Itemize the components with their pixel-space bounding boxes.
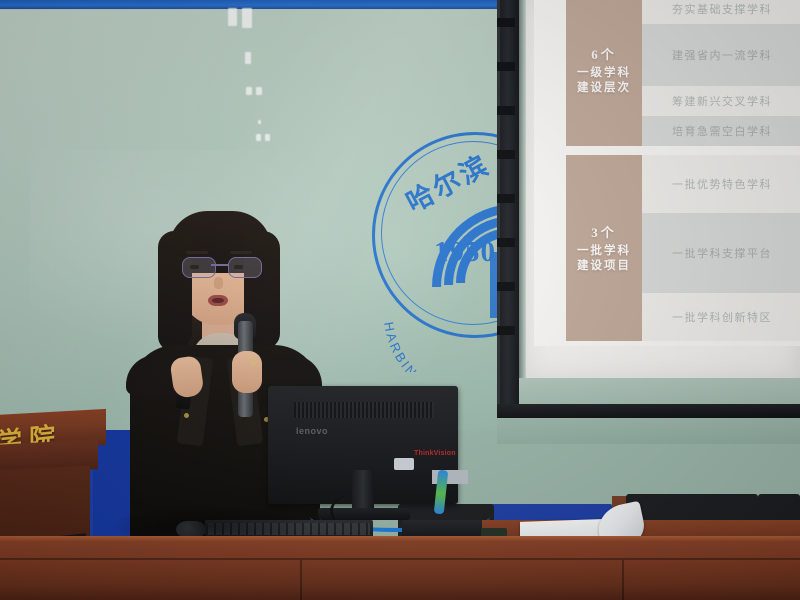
finger-ring	[250, 361, 256, 365]
light-reflection	[246, 87, 252, 95]
jacket-button	[184, 413, 189, 418]
slide-row: 一批优势特色学科	[642, 155, 800, 213]
eyebrow-right	[230, 251, 252, 254]
desk-shadow	[110, 505, 310, 540]
screen-left-frame	[519, 0, 526, 420]
light-reflection	[265, 134, 270, 141]
slide-row: 一批学科创新特区	[642, 293, 800, 341]
slide-group-label: 3个 一批学科 建设项目	[566, 155, 642, 341]
presentation-slide: 6个 一级学科 建设层次 夯实基础支撑学科 建强省内一流学科 筹建新兴交叉学科 …	[534, 0, 800, 346]
desk-seam	[300, 560, 302, 600]
group-line-3: 建设层次	[577, 81, 631, 96]
screen-bottom-band	[519, 378, 800, 406]
desk-seam	[622, 560, 624, 600]
slide-group-rows: 夯实基础支撑学科 建强省内一流学科 筹建新兴交叉学科 培育急需空白学科	[642, 0, 800, 146]
group-line-2: 一级学科	[577, 66, 631, 81]
monitor-sticker	[394, 458, 414, 470]
slide-row: 夯实基础支撑学科	[642, 0, 800, 24]
eyebrow-left	[186, 251, 208, 254]
slide-group: 6个 一级学科 建设层次 夯实基础支撑学科 建强省内一流学科 筹建新兴交叉学科 …	[566, 0, 800, 146]
light-reflection	[245, 52, 251, 64]
desk-front-edge	[0, 536, 800, 541]
monitor-vent	[294, 402, 434, 418]
group-count: 3个	[591, 222, 617, 241]
hair-left	[158, 231, 192, 351]
track-tooth	[497, 326, 515, 335]
glasses-lens-left	[182, 257, 216, 278]
front-desk	[0, 536, 800, 600]
slide-group: 3个 一批学科 建设项目 一批优势特色学科 一批学科支撑平台 一批学科创新特区	[566, 155, 800, 341]
hand-right	[232, 351, 262, 393]
track-tooth	[497, 18, 515, 27]
projection-screen: 6个 一级学科 建设层次 夯实基础支撑学科 建强省内一流学科 筹建新兴交叉学科 …	[526, 0, 800, 378]
track-tooth	[497, 194, 515, 203]
glasses-bridge	[211, 264, 229, 266]
track-tooth	[497, 238, 515, 247]
light-reflection	[256, 134, 261, 141]
lecture-photo-scene: 哈尔滨 1950 HARBIN UNIVERSITY OF	[0, 0, 800, 600]
lenovo-logo: lenovo	[296, 426, 328, 436]
thinkvision-logo: ThinkVision	[414, 450, 456, 457]
slide-row: 筹建新兴交叉学科	[642, 86, 800, 116]
light-reflection	[256, 87, 262, 95]
slide-row: 培育急需空白学科	[642, 116, 800, 146]
track-tooth	[497, 150, 515, 159]
slide-group-label: 6个 一级学科 建设层次	[566, 0, 642, 146]
group-line-3: 建设项目	[577, 259, 631, 274]
nose	[214, 277, 223, 289]
slide-table: 6个 一级学科 建设层次 夯实基础支撑学科 建强省内一流学科 筹建新兴交叉学科 …	[566, 0, 800, 341]
mouth-inner	[212, 298, 224, 303]
track-tooth	[497, 282, 515, 291]
blackboard-track	[497, 0, 521, 425]
eye-left	[190, 265, 199, 269]
slide-row: 建强省内一流学科	[642, 24, 800, 86]
track-tooth	[497, 106, 515, 115]
light-reflection	[228, 8, 237, 26]
group-line-2: 一批学科	[577, 244, 631, 259]
desk-seam	[0, 558, 800, 560]
track-tooth	[497, 62, 515, 71]
light-reflection	[242, 8, 252, 28]
eye-right	[234, 265, 243, 269]
slide-row: 一批学科支撑平台	[642, 213, 800, 293]
group-count: 6个	[591, 44, 617, 63]
light-reflection	[258, 120, 261, 124]
slide-group-rows: 一批优势特色学科 一批学科支撑平台 一批学科创新特区	[642, 155, 800, 341]
